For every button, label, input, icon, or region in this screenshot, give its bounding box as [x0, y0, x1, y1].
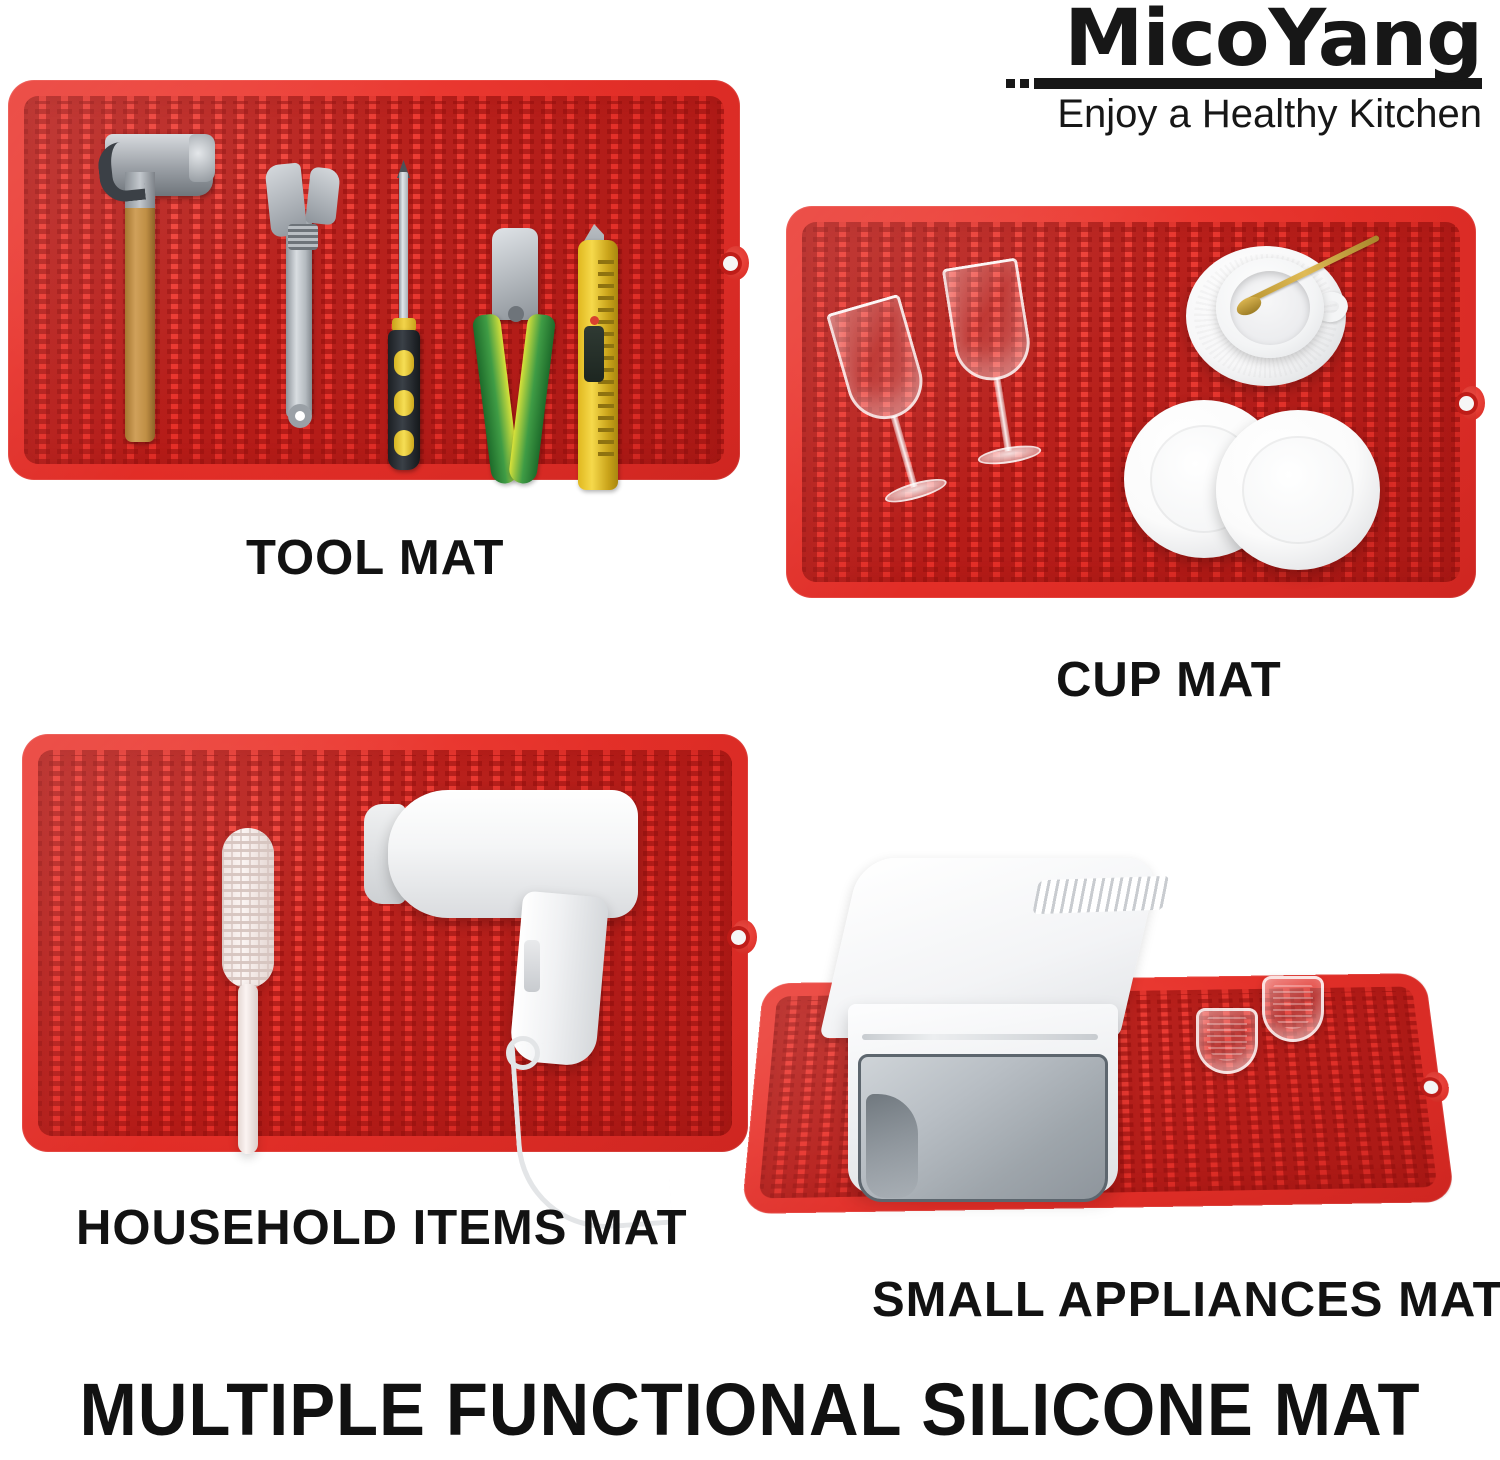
brand-name: MicoYang: [952, 4, 1482, 76]
countertop-appliance: [840, 858, 1150, 1218]
glass-cup: [1196, 1008, 1258, 1074]
combination-pliers: [478, 228, 558, 498]
screwdriver-shaft: [399, 172, 408, 322]
teacup-and-saucer: [1186, 236, 1376, 396]
page-headline: MULTIPLE FUNCTIONAL SILICONE MAT: [53, 1367, 1448, 1452]
utility-knife-slider: [584, 326, 604, 382]
wine-glass-foot: [977, 442, 1043, 468]
utility-knife-dot: [590, 316, 599, 325]
screwdriver-grip-pad: [394, 430, 414, 456]
screwdriver-grip-pad: [394, 390, 414, 416]
label-household-items-mat: HOUSEHOLD ITEMS MAT: [76, 1200, 688, 1256]
claw-hammer: [105, 112, 225, 432]
label-small-appliances-mat: SMALL APPLIANCES MAT: [872, 1272, 1500, 1328]
hair-brush-head: [222, 828, 274, 988]
hair-dryer: [388, 790, 688, 1190]
utility-knife: [570, 240, 630, 500]
product-image-canvas: MicoYang Enjoy a Healthy Kitchen: [0, 0, 1500, 1460]
hanging-hole-icon: [731, 930, 746, 945]
appliance-seam: [862, 1034, 1098, 1040]
wrench-hang-eye: [288, 404, 312, 428]
phillips-screwdriver: [382, 172, 426, 472]
label-cup-mat: CUP MAT: [1056, 652, 1282, 708]
round-hair-brush: [222, 828, 282, 1158]
wine-glass-bowl: [942, 257, 1036, 385]
hanging-hole-icon: [723, 256, 738, 271]
wine-glass-stem: [890, 415, 917, 488]
hammer-face: [189, 134, 215, 182]
hammer-handle: [125, 192, 155, 442]
label-tool-mat: TOOL MAT: [246, 530, 504, 586]
screwdriver-grip-pad: [394, 350, 414, 376]
hair-dryer-switch: [524, 940, 540, 992]
hair-brush-bristles: [222, 828, 274, 988]
hanging-hole-icon: [1459, 396, 1474, 411]
logo-tick-icon: [1020, 79, 1029, 88]
wine-glass-stem: [993, 377, 1011, 451]
wrench-worm-screw: [288, 224, 318, 250]
glass-cup: [1262, 976, 1324, 1042]
pliers-pivot: [508, 306, 524, 322]
appliance-vent: [1032, 876, 1170, 915]
dinner-plate: [1216, 410, 1380, 570]
logo-tick-icon: [1006, 79, 1015, 88]
pliers-handle: [508, 313, 557, 485]
brand-logo: MicoYang Enjoy a Healthy Kitchen: [962, 4, 1482, 137]
wrench-movable-jaw: [305, 167, 341, 226]
brand-tagline: Enjoy a Healthy Kitchen: [962, 92, 1482, 137]
hair-brush-handle: [238, 984, 258, 1154]
appliance-glass-highlight: [866, 1094, 918, 1198]
adjustable-wrench: [262, 164, 352, 444]
